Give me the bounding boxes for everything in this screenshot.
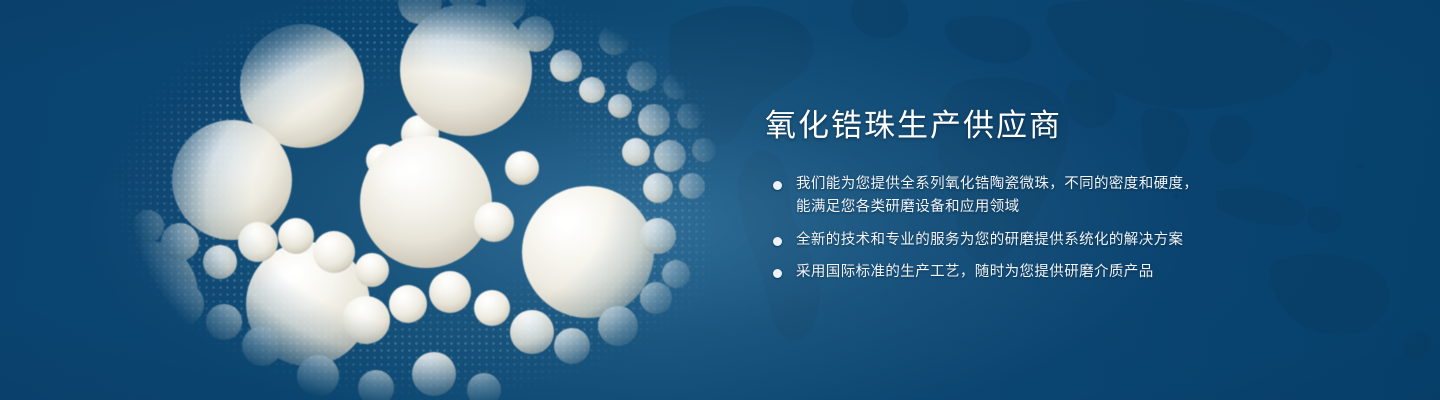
list-item: 采用国际标准的生产工艺，随时为您提供研磨介质产品: [765, 261, 1365, 284]
list-item-line-2: 能满足您各类研磨设备和应用领域: [796, 196, 1365, 219]
feature-list: 我们能为您提供全系列氧化锆陶瓷微珠，不同的密度和硬度， 能满足您各类研磨设备和应…: [765, 173, 1365, 285]
page-title: 氧化锆珠生产供应商: [765, 108, 1365, 145]
hero-banner: 氧化锆珠生产供应商 我们能为您提供全系列氧化锆陶瓷微珠，不同的密度和硬度， 能满…: [0, 0, 1440, 400]
bullet-dot-icon: [773, 237, 782, 246]
banner-copy: 氧化锆珠生产供应商 我们能为您提供全系列氧化锆陶瓷微珠，不同的密度和硬度， 能满…: [765, 108, 1365, 285]
list-item-line-1: 采用国际标准的生产工艺，随时为您提供研磨介质产品: [796, 264, 1154, 280]
bullet-dot-icon: [773, 181, 782, 190]
list-item-line-1: 我们能为您提供全系列氧化锆陶瓷微珠，不同的密度和硬度，: [796, 176, 1198, 192]
list-item-line-1: 全新的技术和专业的服务为您的研磨提供系统化的解决方案: [796, 232, 1183, 248]
list-item: 全新的技术和专业的服务为您的研磨提供系统化的解决方案: [765, 229, 1365, 252]
bullet-dot-icon: [773, 269, 782, 278]
list-item: 我们能为您提供全系列氧化锆陶瓷微珠，不同的密度和硬度， 能满足您各类研磨设备和应…: [765, 173, 1365, 220]
